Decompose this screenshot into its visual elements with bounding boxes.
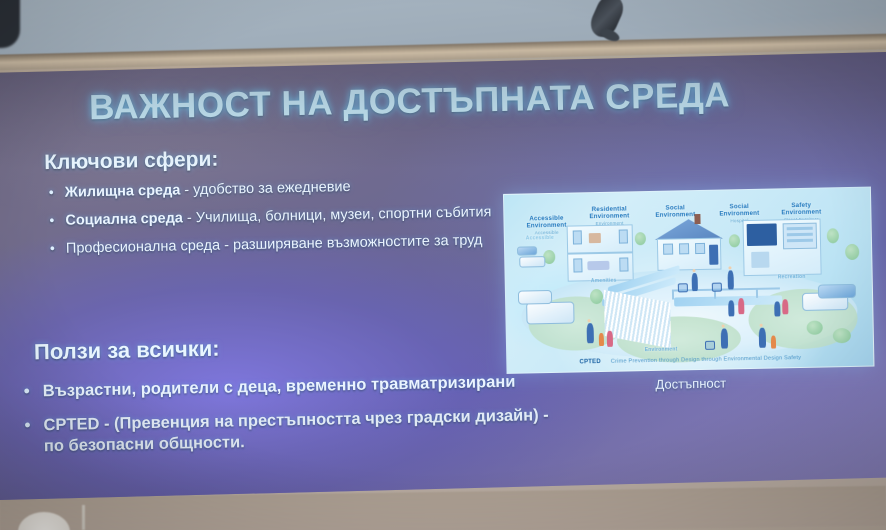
person-icon [692,273,698,291]
person-icon [728,300,734,316]
illustration-inner-label: Recreation [768,275,816,282]
presentation-slide: ВАЖНОСТ НА ДОСТЪПНАТА СРЕДА Ключови сфер… [0,52,886,500]
bullet-text: Възрастни, родители с деца, временно тра… [43,373,516,400]
cpted-acronym: CPTED [579,359,600,365]
illustration-caption: Достъпност [507,373,875,395]
bullet-bold-text: Социална среда [65,210,183,228]
person-icon [759,328,766,348]
illustration-label: Residential Environment Environment [582,206,636,226]
child-icon [599,333,604,346]
benefits-bullet-list: Възрастни, родители с деца, временно тра… [21,371,563,471]
foreground-pole [82,505,85,530]
illustration-inner-label: Accessible [519,236,561,242]
person-head-icon [587,319,590,322]
illustration-inner-label: Environment [635,347,687,354]
hospital-building-icon [743,219,822,283]
residential-building-icon [567,224,634,283]
person-icon [587,323,594,343]
bullet-text: - удобство за ежедневие [180,179,351,198]
bullet-text: CPTED - (Превенция на престъпността чрез… [43,407,549,456]
vehicle-icon [519,256,545,268]
person-head-icon [760,324,763,327]
key-areas-bullet-list: Жилищна среда - удобство за ежедневие Со… [47,176,499,269]
person-icon [721,328,728,348]
person-icon [782,299,788,314]
person-head-icon [692,269,695,272]
bullet-item: Жилищна среда - удобство за ежедневие [47,176,497,203]
tree-icon [845,244,859,260]
bullet-item: Възрастни, родители с деца, временно тра… [21,371,561,402]
section-heading-benefits: Ползи за всички: [34,336,220,366]
tree-icon [833,328,851,343]
person-head-icon [722,325,725,328]
child-icon [771,335,776,348]
vehicle-icon [518,290,552,305]
vehicle-icon [517,246,537,255]
person-icon [738,298,744,314]
bullet-bold-text: Жилищна среда [65,182,181,200]
bullet-item: Социална среда - Училища, болници, музеи… [47,204,497,231]
projected-slide-photo: ВАЖНОСТ НА ДОСТЪПНАТА СРЕДА Ключови сфер… [0,0,886,530]
bullet-item: Професионална среда - разширяване възмож… [48,232,498,259]
wheelchair-icon [678,283,688,292]
person-icon [607,331,613,347]
accessibility-illustration: Accessible Environment Accessible Reside… [503,187,875,374]
illustration-inner-label: Amenities [580,278,628,285]
bullet-text: - Училища, болници, музеи, спортни събит… [183,204,492,226]
tree-icon [827,228,839,243]
person-icon [728,270,734,289]
section-heading-key-areas: Ключови сфери: [44,148,219,175]
person-head-icon [728,266,731,269]
handrail-post-icon [756,288,758,298]
bullet-text: Професионална среда - разширяване възмож… [66,232,483,256]
accessible-van-icon [526,302,574,325]
tree-icon [635,232,646,245]
vehicle-icon [818,284,856,299]
wheelchair-icon [705,341,715,350]
wheelchair-icon [712,283,722,292]
bullet-item: CPTED - (Превенция на престъпността чрез… [21,405,562,457]
person-icon [774,301,780,316]
handrail-post-icon [672,290,674,300]
tree-icon [729,234,740,247]
illustration-canvas: Accessible Environment Accessible Reside… [503,187,875,374]
slide-title: ВАЖНОСТ НА ДОСТЪПНАТА СРЕДА [89,75,731,128]
